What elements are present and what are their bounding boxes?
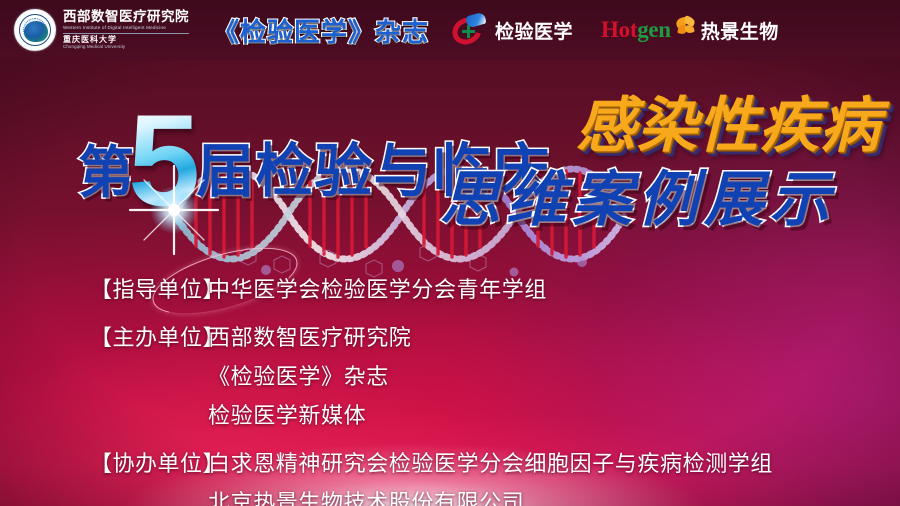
info-row-coorganizer: 【协办单位】 白求恩精神研究会检验医学分会细胞因子与疾病检测学组 <box>90 446 773 478</box>
institute-name-en: Western Institute of Digital Intelligent… <box>63 26 189 31</box>
logo-hotgen[interactable]: Hotgen 热景生物 <box>601 0 779 60</box>
title-highlight: 感染性疾病 <box>576 96 881 156</box>
info-row-host: 【主办单位】 西部数智医疗研究院 <box>90 320 773 352</box>
institute-name-cn: 西部数智医疗研究院 <box>63 10 189 24</box>
info-value-coorganizer-1: 白求恩精神研究会检验医学分会细胞因子与疾病检测学组 <box>208 446 773 478</box>
info-value-coorganizer-2: 北京热景生物技术股份有限公司 <box>208 485 524 506</box>
institute-seal-icon <box>14 9 56 51</box>
hotgen-gen: gen <box>637 17 671 42</box>
hotgen-hot: Hot <box>601 17 637 42</box>
title-prefix: 第 <box>78 145 134 201</box>
info-label-guidance: 【指导单位】 <box>90 272 208 304</box>
hotgen-wordmark: Hotgen <box>601 17 671 43</box>
logo-lab-medicine[interactable]: 检验医学 <box>451 0 573 60</box>
hotgen-label-cn: 热景生物 <box>701 17 779 44</box>
info-value-guidance: 中华医学会检验医学分会青年学组 <box>208 272 547 304</box>
university-name-cn: 重庆医科大学 <box>63 33 189 44</box>
info-value-host-1: 西部数智医疗研究院 <box>208 320 411 352</box>
info-label-host: 【主办单位】 <box>90 320 208 352</box>
info-row-host-2: 【主办单位】 《检验医学》杂志 <box>90 359 773 391</box>
journal-wordmark-icon: 《检验医学》杂志 <box>213 12 429 49</box>
info-row-coorganizer-2: 【协办单位】 北京热景生物技术股份有限公司 <box>90 485 773 506</box>
info-label-coorganizer: 【协办单位】 <box>90 446 208 478</box>
logo-journal[interactable]: 《检验医学》杂志 <box>213 0 429 60</box>
title-edition-number: 5 <box>128 110 200 211</box>
sponsor-logo-bar: 西部数智医疗研究院 Western Institute of Digital I… <box>0 0 900 60</box>
info-value-host-3: 检验医学新媒体 <box>208 398 366 430</box>
organizer-info-block: 【指导单位】 中华医学会检验医学分会青年学组 【主办单位】 西部数智医疗研究院 … <box>90 272 773 506</box>
lab-medicine-label: 检验医学 <box>495 17 573 44</box>
info-row-host-3: 【主办单位】 检验医学新媒体 <box>90 398 773 430</box>
logo-western-institute[interactable]: 西部数智医疗研究院 Western Institute of Digital I… <box>0 0 189 60</box>
university-name-en: Chongqing Medical University <box>63 45 189 49</box>
info-value-host-2: 《检验医学》杂志 <box>208 359 389 391</box>
medical-cross-swoosh-icon <box>451 13 489 47</box>
info-row-guidance: 【指导单位】 中华医学会检验医学分会青年学组 <box>90 272 773 304</box>
title-line-2: 思维案例展示 <box>440 170 836 230</box>
poster-title: 第 5 届检验与临床 感染性疾病 思维案例展示 <box>0 86 900 246</box>
butterfly-icon <box>676 17 696 37</box>
poster-canvas: 西部数智医疗研究院 Western Institute of Digital I… <box>0 0 900 506</box>
